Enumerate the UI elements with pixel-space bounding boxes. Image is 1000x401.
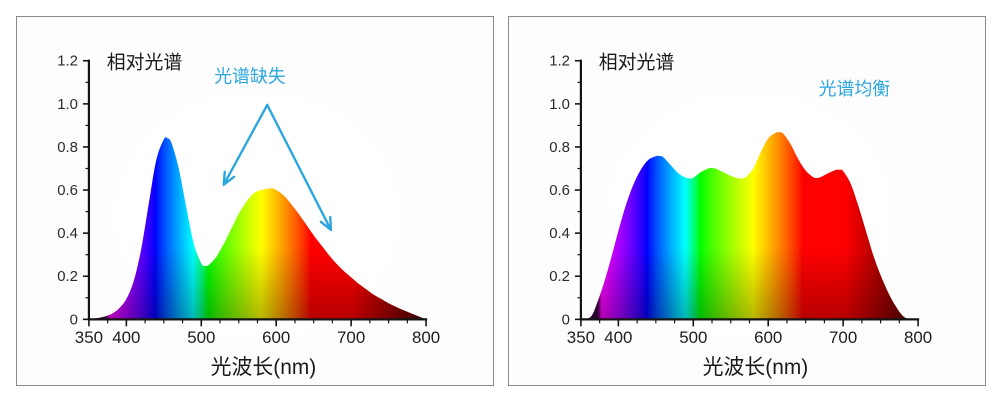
y-tick-label: 1.2	[57, 54, 78, 70]
chart-title: 相对光谱	[599, 52, 675, 74]
x-tick-label: 400	[112, 328, 140, 347]
callout-annotation: 光谱均衡	[819, 79, 891, 99]
y-tick-label: 0	[70, 312, 78, 328]
x-tick-label: 600	[754, 328, 782, 347]
x-tick-label: 500	[679, 328, 707, 347]
x-tick-label: 800	[412, 328, 440, 347]
x-tick-label: 400	[604, 328, 632, 347]
panel-spectrum-missing: 00.20.40.60.81.01.2350400500600700800光波长…	[16, 16, 494, 386]
y-tick-label: 0	[562, 312, 570, 328]
spectrum-chart-left: 00.20.40.60.81.01.2350400500600700800光波长…	[17, 17, 493, 385]
spectrum-comparison-figure: 00.20.40.60.81.01.2350400500600700800光波长…	[0, 0, 1000, 401]
y-tick-label: 1.0	[549, 97, 570, 113]
callout-label: 光谱缺失	[214, 66, 286, 86]
y-tick-label: 0.2	[57, 269, 78, 285]
x-tick-label: 700	[337, 328, 365, 347]
y-tick-label: 0.8	[549, 140, 570, 156]
x-tick-label: 350	[75, 328, 103, 347]
x-tick-label: 350	[567, 328, 595, 347]
x-tick-label: 700	[829, 328, 857, 347]
y-tick-label: 0.6	[549, 183, 570, 199]
x-tick-label: 800	[904, 328, 932, 347]
y-tick-label: 0.4	[57, 226, 78, 242]
y-tick-label: 0.8	[57, 140, 78, 156]
y-tick-label: 0.4	[549, 226, 570, 242]
y-tick-label: 0.2	[549, 269, 570, 285]
x-axis-title: 光波长(nm)	[703, 356, 809, 379]
callout-label: 光谱均衡	[819, 79, 891, 99]
x-axis-title: 光波长(nm)	[211, 356, 317, 379]
panel-spectrum-balanced: 00.20.40.60.81.01.2350400500600700800光波长…	[508, 16, 986, 386]
y-tick-label: 1.0	[57, 97, 78, 113]
chart-title: 相对光谱	[107, 52, 183, 74]
x-tick-label: 600	[262, 328, 290, 347]
y-tick-label: 0.6	[57, 183, 78, 199]
x-tick-label: 500	[187, 328, 215, 347]
y-tick-label: 1.2	[549, 54, 570, 70]
spectrum-chart-right: 00.20.40.60.81.01.2350400500600700800光波长…	[509, 17, 985, 385]
